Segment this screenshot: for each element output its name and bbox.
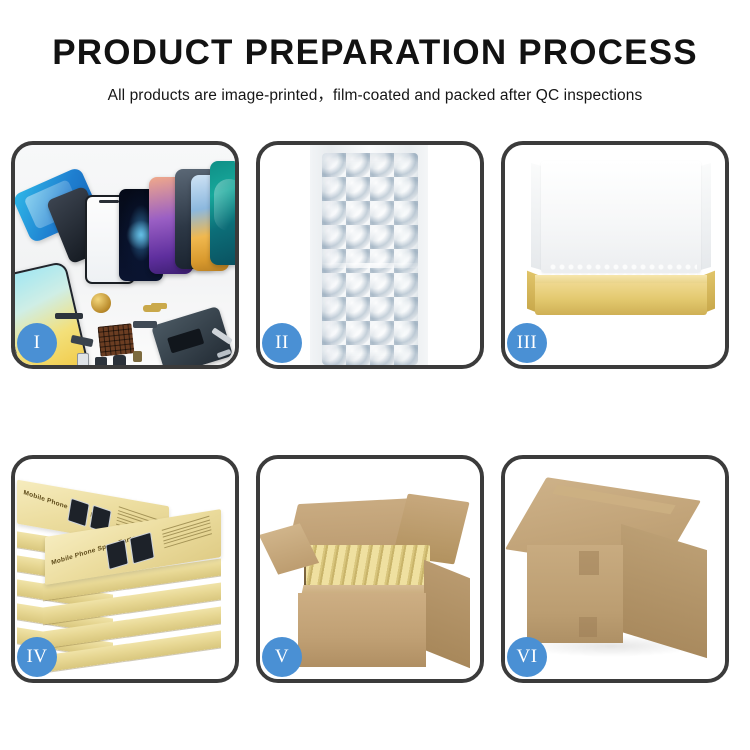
process-step-panel-5[interactable]: V <box>256 455 484 683</box>
kraft-tray-icon <box>535 283 707 315</box>
spare-part-icon <box>55 313 83 319</box>
box-thumbnail-icon <box>129 532 155 565</box>
step-badge-3: III <box>507 323 547 363</box>
box-thumbnail-icon <box>67 498 90 527</box>
copper-coil-icon <box>91 293 111 313</box>
step-badge-1: I <box>17 323 57 363</box>
carton-front-face-icon <box>298 593 426 667</box>
process-step-panel-4[interactable]: Mobile Phone Spare Parts Mobile Phone Sp… <box>11 455 239 683</box>
phone-teal-icon <box>210 161 235 265</box>
step-badge-2: II <box>262 323 302 363</box>
page-header: PRODUCT PREPARATION PROCESS All products… <box>0 0 750 105</box>
box-spec-lines <box>162 516 212 551</box>
connector-grid-icon <box>98 323 135 356</box>
spare-part-icon <box>77 353 89 365</box>
process-step-panel-1[interactable]: I <box>11 141 239 369</box>
spare-part-icon <box>133 351 142 362</box>
page-title: PRODUCT PREPARATION PROCESS <box>0 34 750 73</box>
page-subtitle: All products are image-printed，film-coat… <box>0 83 750 105</box>
carton-tab-icon <box>579 551 599 575</box>
process-step-panel-3[interactable]: III <box>501 141 729 369</box>
step-badge-5: V <box>262 637 302 677</box>
spare-part-icon <box>95 357 107 365</box>
process-step-panel-2[interactable]: II <box>256 141 484 369</box>
bubble-wrap-icon <box>322 153 418 365</box>
carton-right-face-icon <box>424 560 470 669</box>
box-thumbnail-icon <box>105 539 128 570</box>
spare-part-icon <box>151 303 167 309</box>
process-step-grid: I II III <box>11 141 739 683</box>
carton-front-face-icon <box>527 545 623 643</box>
spare-part-icon <box>113 355 126 365</box>
seam-icon <box>322 263 418 268</box>
step-badge-6: VI <box>507 637 547 677</box>
spare-part-icon <box>133 321 157 328</box>
white-lid-icon <box>541 161 701 273</box>
step-badge-4: IV <box>17 637 57 677</box>
carton-tab-icon <box>579 617 597 637</box>
process-step-panel-6[interactable]: VI <box>501 455 729 683</box>
